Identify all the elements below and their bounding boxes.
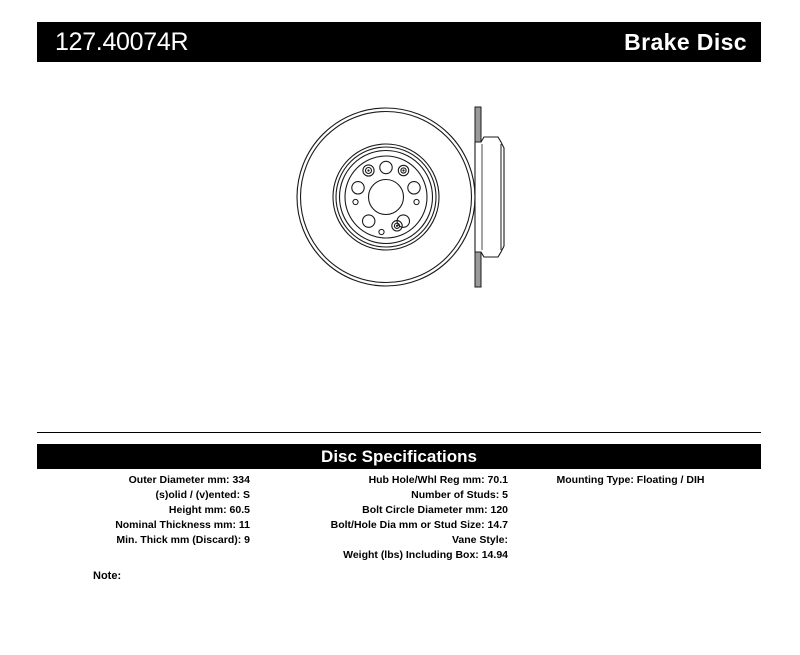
hole-hatch-group bbox=[367, 169, 404, 227]
spec-column-right: Mounting Type: Floating / DIH bbox=[508, 473, 753, 488]
rotor-ring-top bbox=[475, 107, 481, 142]
note-label: Note: bbox=[93, 570, 121, 582]
disc-cross-section-view bbox=[460, 104, 530, 290]
spec-row: Min. Thick mm (Discard): 9 bbox=[37, 533, 250, 548]
part-number-label: 127.40074R bbox=[55, 30, 188, 55]
pilot-hole bbox=[353, 199, 358, 204]
stud-hole bbox=[380, 161, 392, 173]
specifications-title-bar: Disc Specifications bbox=[37, 444, 761, 469]
hat-step-circle bbox=[340, 151, 433, 244]
disc-face-svg bbox=[295, 106, 477, 288]
disc-face-rotor-view bbox=[295, 106, 477, 288]
center-bore-circle bbox=[369, 180, 404, 215]
rotor-ring-bottom bbox=[475, 252, 481, 287]
stud-hole bbox=[363, 215, 375, 227]
spec-column-middle: Hub Hole/Whl Reg mm: 70.1 Number of Stud… bbox=[250, 473, 508, 563]
spec-row: Hub Hole/Whl Reg mm: 70.1 bbox=[258, 473, 508, 488]
spec-row: Height mm: 60.5 bbox=[37, 503, 250, 518]
spec-row: (s)olid / (v)ented: S bbox=[37, 488, 250, 503]
product-type-label: Brake Disc bbox=[624, 31, 747, 54]
friction-surface-inner-circle bbox=[333, 144, 439, 250]
specifications-table: Outer Diameter mm: 334 (s)olid / (v)ente… bbox=[37, 473, 761, 563]
header-bar: 127.40074R Brake Disc bbox=[37, 22, 761, 62]
pilot-hole bbox=[414, 199, 419, 204]
spec-row: Vane Style: bbox=[258, 533, 508, 548]
hat-outer-circle bbox=[336, 147, 436, 247]
stud-hole bbox=[408, 182, 420, 194]
spec-row: Bolt Circle Diameter mm: 120 bbox=[258, 503, 508, 518]
hub-face-circle bbox=[345, 156, 427, 238]
spec-row: Number of Studs: 5 bbox=[258, 488, 508, 503]
spec-row: Outer Diameter mm: 334 bbox=[37, 473, 250, 488]
hat-section-outline bbox=[475, 137, 504, 257]
pilot-hole bbox=[379, 229, 384, 234]
spec-column-left: Outer Diameter mm: 334 (s)olid / (v)ente… bbox=[37, 473, 250, 548]
note-row: Note: bbox=[37, 570, 761, 582]
section-divider bbox=[37, 432, 761, 433]
spec-row: Bolt/Hole Dia mm or Stud Size: 14.7 bbox=[258, 518, 508, 533]
specifications-title: Disc Specifications bbox=[321, 448, 477, 465]
spec-row: Mounting Type: Floating / DIH bbox=[508, 473, 753, 488]
rotor-outer-edge-circle bbox=[297, 108, 475, 286]
rotor-outer-chamfer-circle bbox=[301, 112, 472, 283]
spec-row: Nominal Thickness mm: 11 bbox=[37, 518, 250, 533]
spec-row: Weight (lbs) Including Box: 14.94 bbox=[258, 548, 508, 563]
product-drawing-area bbox=[37, 72, 761, 422]
disc-cross-section-svg bbox=[460, 104, 530, 290]
stud-hole bbox=[352, 182, 364, 194]
